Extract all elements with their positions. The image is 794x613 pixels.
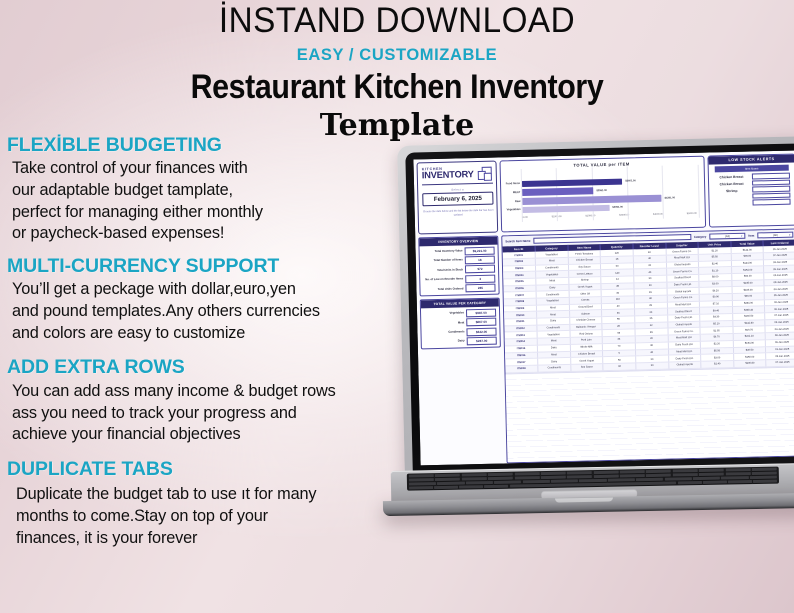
laptop-lid: KITCHEN INVENTORY Select a February 6, 2… <box>397 136 794 481</box>
chevron-down-icon: ▾ <box>741 235 742 238</box>
header-instant-download: İNSTAND DOWNLOAD <box>20 0 774 40</box>
empty-spreadsheet-rows[interactable] <box>505 366 794 462</box>
clipboard-boxes-icon <box>478 167 493 181</box>
feature-multi-currency-support: MULTI-CURRENCY SUPPORT You’ll get a peck… <box>7 254 411 344</box>
table-cell[interactable]: 07-Jan-2025 <box>766 359 794 366</box>
summary-sidebar: INVENTORY OVERVIEW Total Inventory Value… <box>418 236 503 466</box>
feature-line: You’ll get a peckage with dollar,euro,ye… <box>12 279 411 301</box>
table-body: ITM001VegetablesFresh Tomatoes12040Green… <box>503 246 794 373</box>
feature-body: Take control of your finances with our a… <box>7 158 411 245</box>
header-easy-customizable: EASY / CUSTOMIZABLE <box>0 46 794 65</box>
overview-row: Total Inventory Value $9,221.00 <box>423 246 495 256</box>
total-value-per-item-chart: TOTAL VALUE per ITEM Food Items $3601.00… <box>499 156 706 233</box>
brand-card: KITCHEN INVENTORY Select a February 6, 2… <box>417 161 499 235</box>
inventory-table: Item ID Category Item Name Quantity Reor… <box>503 240 794 373</box>
feature-line: months to come.Stay on top of your <box>16 506 411 528</box>
chart-bar-label: MEAT <box>504 191 520 194</box>
feature-line: perfect for managing either monthly <box>12 202 411 224</box>
laptop-bezel: KITCHEN INVENTORY Select a February 6, 2… <box>405 143 794 472</box>
feature-line: and colors are easy to customize <box>12 323 411 345</box>
overview-row: No. of Low on Reorder Items 3 <box>423 274 495 284</box>
category-row: Dairy $287.00 <box>425 337 497 347</box>
category-value: $867.00 <box>466 318 496 327</box>
overview-value: 18 <box>465 256 495 265</box>
category-value: $287.00 <box>467 337 497 346</box>
overview-value: 972 <box>465 265 495 274</box>
search-label: Search Item Name <box>505 239 530 244</box>
overview-row: Total Units Ordered 285 <box>423 284 495 294</box>
header-product-title: Restaurant Kitchen Inventory <box>8 68 786 105</box>
alerts-value-cells <box>752 173 791 206</box>
alerts-item-list: Chicken Breast Chicken Breast Shrimp <box>714 174 750 207</box>
alert-item: Chicken Breast <box>714 182 749 187</box>
chart-bar-label: Vegetables <box>505 208 521 211</box>
category-value: $642.00 <box>466 327 496 336</box>
feature-line: ass you need to track your progress and <box>12 403 411 425</box>
category-row: Condiments $642.00 <box>424 327 496 337</box>
item-filter-value: (All) <box>758 234 792 238</box>
overview-label: Total Inventory Value <box>423 249 463 253</box>
feature-line: Take control of your finances with <box>12 158 411 180</box>
feature-title: DUPLICATE TABS <box>7 457 411 481</box>
category-filter-label: Category <box>694 235 707 239</box>
chart-bar-label: Raw <box>504 200 520 203</box>
laptop-screen: KITCHEN INVENTORY Select a February 6, 2… <box>413 150 794 465</box>
category-row: Meat $867.00 <box>424 318 496 328</box>
total-value-per-category-card: TOTAL VALUE PER CATEGORY Vegetables $987… <box>420 298 501 350</box>
overview-row: Total Units in Stock 972 <box>423 265 495 275</box>
feature-line: finances, it is your forever <box>16 528 411 550</box>
chart-bar-value: $4301.00 <box>665 196 676 199</box>
chart-plot-area: Food Items $3601.00 MEAT $2551.00 <box>504 165 701 230</box>
category-filter-dropdown[interactable]: (All) ▾ <box>709 233 745 240</box>
feature-line: You can add ass many income & budget row… <box>12 381 411 403</box>
chart-bar-label: Food Items <box>504 182 520 185</box>
overview-value: 285 <box>465 284 495 293</box>
alerts-column-header: Item Name <box>715 164 789 172</box>
chevron-down-icon: ▾ <box>789 234 790 237</box>
category-label: Condiments <box>424 330 464 334</box>
low-stock-alerts-panel: LOW STOCK ALERTS Item Name Chicken Breas… <box>707 154 794 228</box>
feature-line: our adaptable budget tamplate, <box>12 180 411 202</box>
chart-bar-value: $2551.00 <box>596 189 607 192</box>
category-filter-value: (All) <box>710 235 744 239</box>
category-row: Vegetables $987.00 <box>424 308 496 318</box>
feature-list: FLEXİBLE BUDGETING Take control of your … <box>7 133 411 556</box>
feature-duplicate-tabs: DUPLICATE TABS Duplicate the budget tab … <box>7 457 411 549</box>
overview-label: No. of Low on Reorder Items <box>423 278 463 282</box>
feature-line: Duplicate the budget tab to use ıt for m… <box>16 484 411 506</box>
laptop-keyboard <box>407 467 779 491</box>
feature-body: You can add ass many income & budget row… <box>7 381 411 446</box>
inventory-overview-card: INVENTORY OVERVIEW Total Inventory Value… <box>418 236 499 297</box>
feature-line: or paycheck-based expenses! <box>12 223 411 245</box>
laptop-mockup: KITCHEN INVENTORY Select a February 6, 2… <box>383 141 794 530</box>
feature-title: MULTI-CURRENCY SUPPORT <box>7 254 411 278</box>
feature-title: ADD EXTRA ROWS <box>7 355 411 379</box>
overview-row: Total Number of Items 18 <box>423 256 495 266</box>
dashboard-top-row: KITCHEN INVENTORY Select a February 6, 2… <box>417 154 794 235</box>
alerts-title: LOW STOCK ALERTS <box>708 155 794 165</box>
overview-label: Total Units in Stock <box>423 268 463 272</box>
spreadsheet-app: KITCHEN INVENTORY Select a February 6, 2… <box>413 150 794 465</box>
feature-title: FLEXİBLE BUDGETING <box>7 133 411 157</box>
feature-add-extra-rows: ADD EXTRA ROWS You can add ass many inco… <box>7 355 411 445</box>
category-label: Vegetables <box>424 312 464 316</box>
overview-value: $9,221.00 <box>465 246 495 255</box>
brand-helper-note: Choose the date below and the list below… <box>423 209 494 218</box>
category-label: Dairy <box>425 340 465 344</box>
date-picker-field[interactable]: February 6, 2025 <box>422 192 493 207</box>
alert-item: Chicken Breast <box>714 175 749 180</box>
laptop-base <box>383 467 794 515</box>
item-filter-dropdown[interactable]: (All) ▾ <box>757 232 793 239</box>
overview-value: 3 <box>465 274 495 283</box>
brand-inventory-label: INVENTORY <box>422 170 474 181</box>
feature-line: and pound templates.Any others currencie… <box>12 301 411 323</box>
overview-label: Total Number of Items <box>423 259 463 263</box>
overview-label: Total Units Ordered <box>423 287 463 291</box>
feature-body: Duplicate the budget tab to use ıt for m… <box>7 484 411 549</box>
inventory-table-panel: Search Item Name Category (All) ▾ Item (… <box>501 228 794 463</box>
alert-item: Shrimp <box>714 189 749 194</box>
category-value: $987.00 <box>466 308 496 317</box>
dashboard-main-row: INVENTORY OVERVIEW Total Inventory Value… <box>418 228 794 465</box>
feature-body: You’ll get a peckage with dollar,euro,ye… <box>7 279 411 344</box>
divider <box>422 183 493 186</box>
promo-header: İNSTAND DOWNLOAD EASY / CUSTOMIZABLE Res… <box>0 0 794 141</box>
feature-flexible-budgeting: FLEXİBLE BUDGETING Take control of your … <box>7 133 411 245</box>
chart-bar-value: $3051.00 <box>612 206 623 209</box>
feature-line: achieve your financial objectives <box>12 424 411 446</box>
item-filter-label: Item <box>748 234 754 238</box>
chart-bar-value: $3601.00 <box>625 180 636 183</box>
category-label: Meat <box>424 321 464 325</box>
